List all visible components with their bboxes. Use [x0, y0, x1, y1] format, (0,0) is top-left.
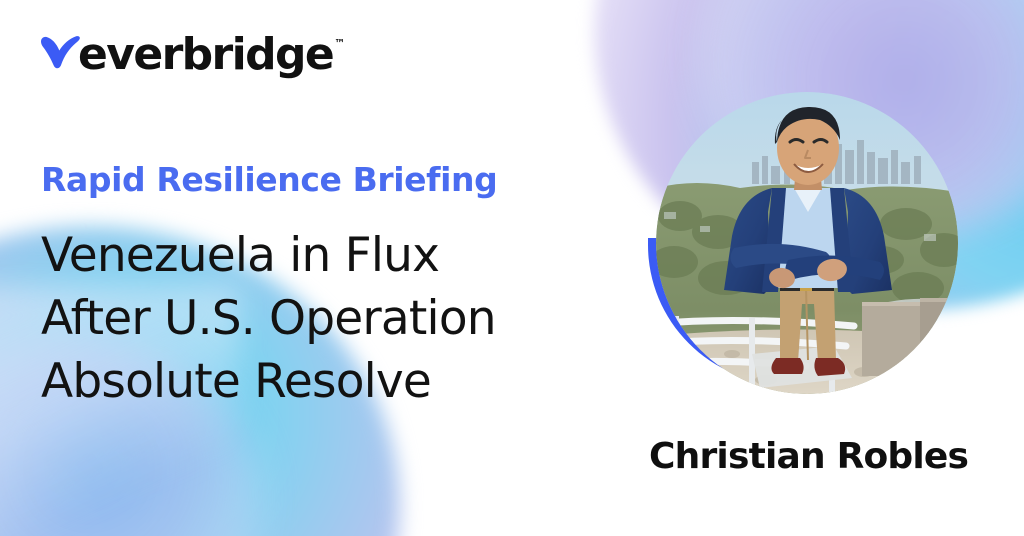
- speaker-name: Christian Robles: [649, 435, 968, 479]
- headline-line-3: Absolute Resolve: [41, 350, 601, 413]
- copy-block: Rapid Resilience Briefing Venezuela in F…: [41, 160, 601, 413]
- avatar: [656, 92, 958, 394]
- trademark-symbol: ™: [334, 38, 345, 49]
- eyebrow-label: Rapid Resilience Briefing: [41, 160, 601, 200]
- everbridge-logo: everbridge ™: [38, 33, 345, 83]
- headline-line-2: After U.S. Operation: [41, 287, 601, 350]
- speaker-portrait-group: [612, 88, 962, 438]
- page-title: Venezuela in Flux After U.S. Operation A…: [41, 224, 601, 413]
- headline-line-1: Venezuela in Flux: [41, 224, 601, 287]
- briefing-slide: everbridge ™ Rapid Resilience Briefing V…: [0, 0, 1024, 536]
- logo-wordmark: everbridge: [78, 33, 333, 77]
- everbridge-check-icon: [38, 35, 82, 73]
- speaker-photo: [656, 92, 958, 394]
